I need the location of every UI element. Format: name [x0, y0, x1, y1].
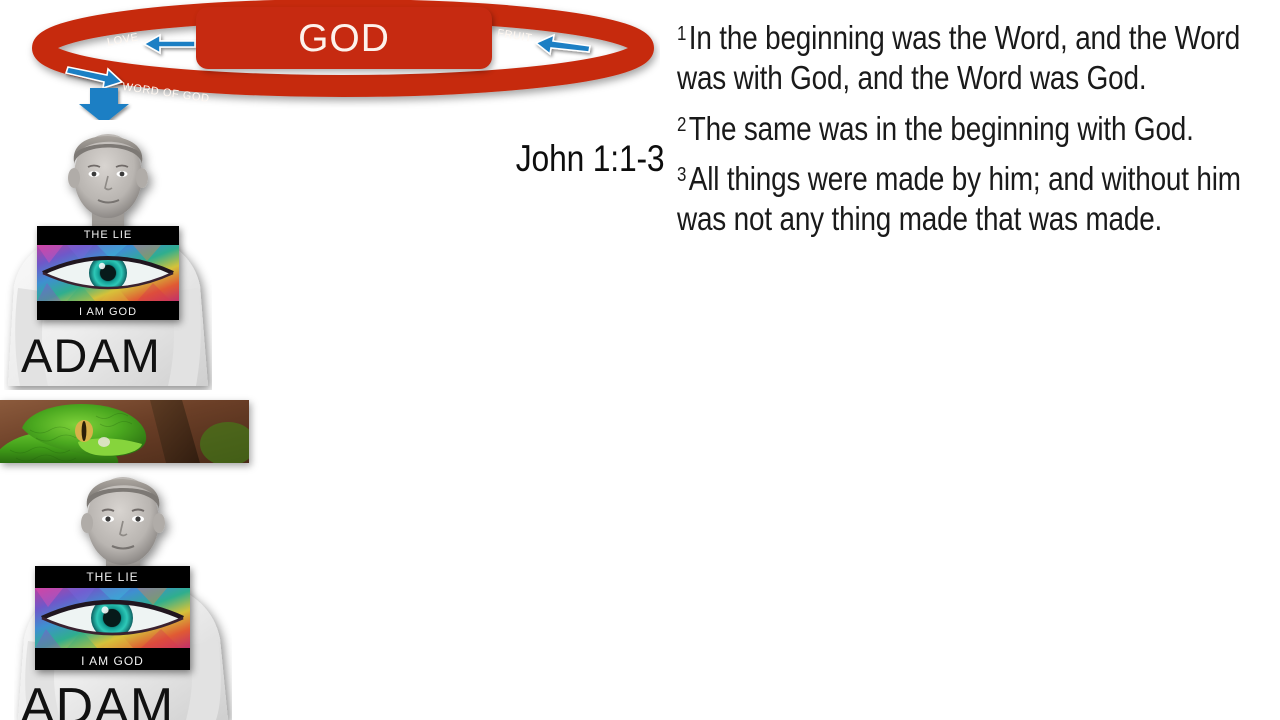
verse-1: 1In the beginning was the Word, and the …: [677, 18, 1277, 99]
adam-name-label-2: ADAM: [20, 681, 174, 720]
placard-2-top-caption: THE LIE: [35, 566, 190, 588]
down-arrow-icon: [79, 88, 129, 120]
verse-1-text: In the beginning was the Word, and the W…: [677, 19, 1240, 96]
placard-2-bottom-caption: I AM GOD: [35, 648, 190, 671]
green-pit-viper-graphic: [0, 400, 249, 463]
scripture-text-block: 1In the beginning was the Word, and the …: [677, 18, 1277, 249]
fruit-arrow-icon: [536, 35, 590, 54]
adam-figure-2: THE LIE: [14, 463, 232, 720]
verse-2-text: The same was in the beginning with God.: [689, 110, 1194, 147]
snake-image: [0, 400, 249, 463]
placard-2: THE LIE: [35, 566, 190, 670]
placard-1-top-caption: THE LIE: [37, 226, 179, 245]
verse-3-text: All things were made by him; and without…: [677, 160, 1241, 237]
verse-2: 2The same was in the beginning with God.: [677, 109, 1277, 149]
cycle-diagram: LOVE FRUIT WORD OF GOD GOD: [0, 0, 660, 120]
god-box-label: GOD: [298, 19, 390, 58]
eye-image-2: [35, 588, 190, 648]
placard-1-bottom-caption: I AM GOD: [37, 301, 179, 322]
verse-1-number: 1: [677, 23, 686, 45]
love-arrow-icon: [144, 35, 195, 53]
god-box: GOD: [196, 7, 492, 69]
eye-image-1: [37, 245, 179, 301]
verse-3-number: 3: [677, 164, 686, 186]
verse-2-number: 2: [677, 114, 686, 136]
scripture-reference: John 1:1-3: [516, 140, 662, 179]
adam-name-label-1: ADAM: [21, 332, 161, 379]
placard-1: THE LIE: [37, 226, 179, 320]
adam-figure-1: THE LIE: [4, 118, 212, 390]
verse-3: 3All things were made by him; and withou…: [677, 159, 1277, 240]
